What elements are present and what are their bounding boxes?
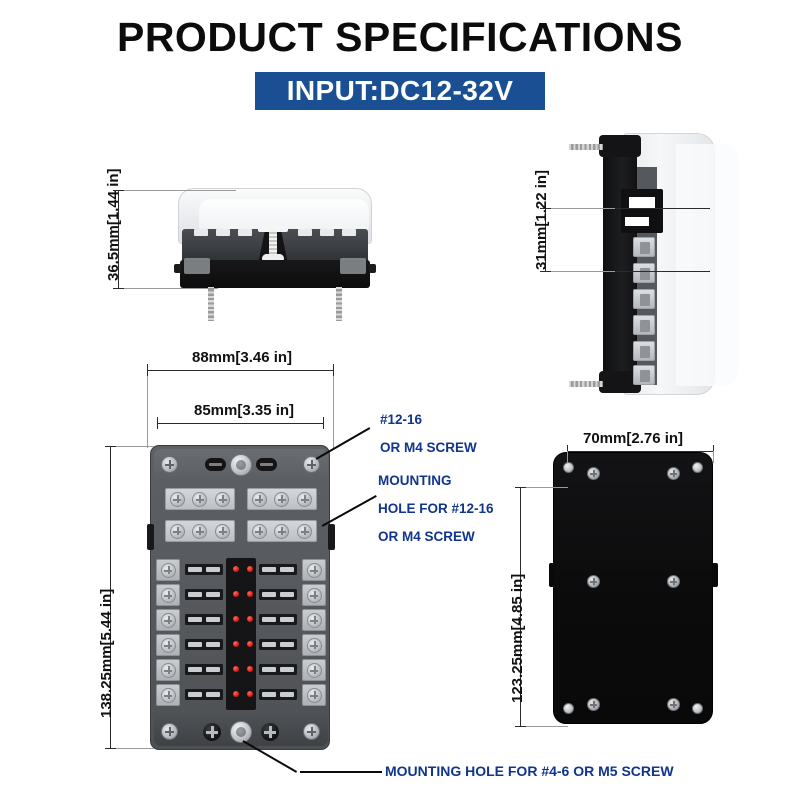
terminal-screw xyxy=(161,563,176,578)
fuse-slot xyxy=(259,564,297,575)
led-indicator xyxy=(247,691,253,697)
led-indicator xyxy=(247,641,253,647)
terminal-screw xyxy=(252,524,267,539)
dim-tick-backheight-top xyxy=(515,487,526,488)
fuse-side-screw-right xyxy=(302,684,326,706)
fuse-slot xyxy=(185,689,223,700)
ext-line-outer-left xyxy=(147,376,148,448)
mounting-hole-bottom-left xyxy=(563,703,574,714)
terminal-block-top-right xyxy=(247,488,317,510)
fuse-slot xyxy=(185,664,223,675)
input-voltage-badge: INPUT:DC12-32V xyxy=(255,72,545,110)
led-indicator xyxy=(233,616,239,622)
ext-line-outer-right xyxy=(333,376,334,448)
led-indicator xyxy=(233,591,239,597)
dim-tick-outer-left xyxy=(147,364,148,376)
dim-label-hole-width: 70mm[2.76 in] xyxy=(583,430,683,447)
ext-line-hole-right xyxy=(713,451,714,463)
terminal-screw xyxy=(274,492,289,507)
side-pin-right xyxy=(369,264,376,273)
led-indicator xyxy=(247,566,253,572)
input-slot-left xyxy=(205,458,226,471)
led-indicator xyxy=(233,666,239,672)
profile-view xyxy=(585,133,725,395)
profile-terminal-tab xyxy=(633,237,655,257)
specification-sheet: PRODUCT SPECIFICATIONS INPUT:DC12-32V 36… xyxy=(0,0,800,800)
mounting-screw-right xyxy=(336,287,342,321)
terminal-screw xyxy=(161,613,176,628)
fuse-side-screw-left xyxy=(156,559,180,581)
profile-mounting-screw-bottom xyxy=(569,381,603,387)
mounting-screw-left xyxy=(208,287,214,321)
dim-tick-backheight-bottom xyxy=(515,726,526,727)
fuse-side-screw-left xyxy=(156,634,180,656)
ext-line-height-bottom xyxy=(110,748,154,749)
output-screw-left xyxy=(203,723,221,741)
mounting-hole-top-left xyxy=(563,462,574,473)
led-indicator xyxy=(233,691,239,697)
terminal-screw xyxy=(307,638,322,653)
ext-line-hole-left xyxy=(567,451,568,463)
ext-line-side-bottom xyxy=(118,288,218,289)
dim-label-inner-width: 85mm[3.35 in] xyxy=(194,402,294,419)
corner-screw-bottom-left xyxy=(161,723,178,740)
profile-cap-top xyxy=(599,135,641,157)
annotation-screw-spec-line2: OR M4 SCREW xyxy=(380,440,477,455)
dim-tick-profile-bottom xyxy=(540,271,551,272)
ext-line-side-top xyxy=(118,190,236,191)
annotation-mounting-m5: MOUNTING HOLE FOR #4-6 OR M5 SCREW xyxy=(385,763,674,779)
ext-line-backheight-bottom xyxy=(520,726,568,727)
fuse-slot xyxy=(259,664,297,675)
terminal-screw xyxy=(307,588,322,603)
terminal-screw xyxy=(170,524,185,539)
fuse-side-screw-right xyxy=(302,609,326,631)
input-voltage-label: INPUT:DC12-32V xyxy=(287,75,514,107)
profile-terminal-tab xyxy=(633,365,655,385)
fuse-slot xyxy=(185,639,223,650)
body-screw-mid-right xyxy=(667,575,680,588)
fuse-slot xyxy=(259,639,297,650)
ext-line-height-top xyxy=(110,446,154,447)
terminal-screw xyxy=(252,492,267,507)
terminal-screw xyxy=(307,688,322,703)
terminal-block-bottom-right xyxy=(247,520,317,542)
body-screw-bottom-right xyxy=(667,698,680,711)
profile-mounting-screw-top xyxy=(569,144,603,150)
fuse-slot xyxy=(259,589,297,600)
leader-line-m5-horizontal xyxy=(300,771,382,773)
fuse-slot xyxy=(185,614,223,625)
ext-line-profile-bottom xyxy=(545,271,615,272)
terminal-screw xyxy=(161,688,176,703)
annotation-mounting-m4-line3: OR M4 SCREW xyxy=(378,529,475,544)
dim-tick-height-bottom xyxy=(105,748,116,749)
body-screw-bottom-left xyxy=(587,698,600,711)
fuse-side-screw-left xyxy=(156,584,180,606)
end-cap-left xyxy=(184,258,210,274)
corner-screw-top-left xyxy=(161,456,178,473)
dim-line-inner-width xyxy=(157,423,323,424)
dim-line-outer-width xyxy=(147,370,333,371)
profile-input-bracket xyxy=(621,189,663,233)
fuse-side-screw-left xyxy=(156,684,180,706)
fuse-side-screw-left xyxy=(156,609,180,631)
terminal-screw xyxy=(307,563,322,578)
dim-tick-inner-right xyxy=(323,417,324,429)
back-side-tab-left xyxy=(549,563,555,587)
fuse-side-screw-right xyxy=(302,559,326,581)
terminal-block-bottom-left xyxy=(165,520,235,542)
terminal-screw xyxy=(161,638,176,653)
terminal-screw xyxy=(307,663,322,678)
fuse-slot xyxy=(259,614,297,625)
dim-label-outer-width: 88mm[3.46 in] xyxy=(192,349,292,366)
terminal-screw xyxy=(215,524,230,539)
terminal-screw xyxy=(297,492,312,507)
dim-tick-bottom xyxy=(113,288,124,289)
side-pin-left xyxy=(174,264,181,273)
dim-label-profile-height: 31mm[1.22 in] xyxy=(533,170,550,270)
page-title: PRODUCT SPECIFICATIONS xyxy=(0,14,800,61)
leader-line-screw-spec xyxy=(316,427,370,459)
leader-profile-top xyxy=(615,208,710,209)
terminal-screw xyxy=(297,524,312,539)
ext-line-profile-top xyxy=(545,208,615,209)
profile-terminal-tab xyxy=(633,289,655,309)
profile-black-spine xyxy=(603,139,637,389)
profile-terminal-tab xyxy=(633,263,655,283)
led-indicator xyxy=(233,641,239,647)
annotation-mounting-m4-line2: HOLE FOR #12-16 xyxy=(378,501,494,516)
terminal-screw xyxy=(215,492,230,507)
dim-label-hole-height: 123.25mm[4.85 in] xyxy=(509,574,526,703)
fuse-side-screw-left xyxy=(156,659,180,681)
mounting-hole-top-right xyxy=(692,462,703,473)
dim-line-hole-width xyxy=(567,451,713,452)
dim-label-overall-height: 138.25mm[5.44 in] xyxy=(98,589,115,718)
body-screw-top-left xyxy=(587,467,600,480)
annotation-mounting-m4-line1: MOUNTING xyxy=(378,473,452,488)
fuse-slot xyxy=(259,689,297,700)
terminal-block-top-left xyxy=(165,488,235,510)
leader-profile-bottom xyxy=(615,271,710,272)
fuse-side-screw-right xyxy=(302,584,326,606)
profile-terminal-tab xyxy=(633,341,655,361)
led-indicator xyxy=(247,616,253,622)
fuse-slot xyxy=(185,589,223,600)
profile-cover-highlight xyxy=(676,144,738,386)
ground-stud-bottom xyxy=(230,721,252,743)
fuse-area xyxy=(154,558,328,710)
corner-screw-bottom-right xyxy=(303,723,320,740)
annotation-screw-spec-line1: #12-16 xyxy=(380,412,422,427)
fuse-side-screw-right xyxy=(302,634,326,656)
fuse-slot xyxy=(185,564,223,575)
terminal-screw xyxy=(161,588,176,603)
dim-tick-inner-left xyxy=(157,417,158,429)
fuse-side-screw-right xyxy=(302,659,326,681)
back-view xyxy=(553,452,713,724)
terminal-screw xyxy=(307,613,322,628)
dim-label-side-height: 36.5mm[1.44 in] xyxy=(105,168,122,281)
input-slot-right xyxy=(256,458,277,471)
terminal-screw xyxy=(192,492,207,507)
ext-line-backheight-top xyxy=(520,487,568,488)
terminal-screw xyxy=(274,524,289,539)
led-indicator xyxy=(247,591,253,597)
led-indicator xyxy=(247,666,253,672)
input-stud-top xyxy=(230,454,252,476)
dim-tick-outer-right xyxy=(333,364,334,376)
dim-tick-height-top xyxy=(105,446,116,447)
end-cap-right xyxy=(340,258,366,274)
front-view xyxy=(150,445,330,750)
side-tab-left xyxy=(147,524,154,550)
mounting-hole-bottom-right xyxy=(692,703,703,714)
led-indicator-strip xyxy=(226,558,256,710)
terminal-screw xyxy=(192,524,207,539)
terminal-screw xyxy=(170,492,185,507)
body-screw-mid-left xyxy=(587,575,600,588)
side-tab-right xyxy=(328,524,335,550)
terminal-screw xyxy=(161,663,176,678)
output-screw-right xyxy=(261,723,279,741)
back-side-tab-right xyxy=(712,563,718,587)
profile-terminal-tab xyxy=(633,315,655,335)
body-screw-top-right xyxy=(667,467,680,480)
led-indicator xyxy=(233,566,239,572)
